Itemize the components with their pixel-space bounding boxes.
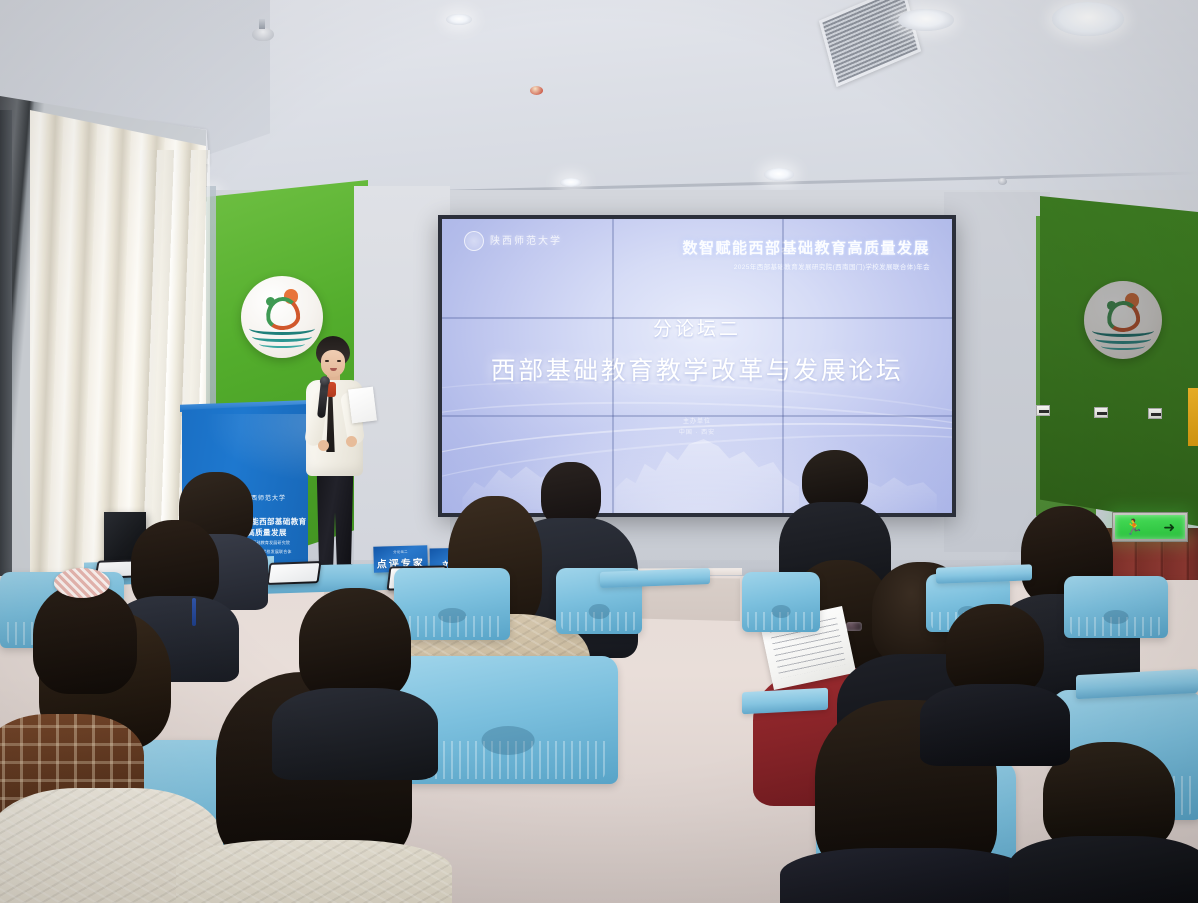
slide-footer-line-1: 主办单位 (442, 417, 952, 428)
university-seal-icon (464, 231, 484, 251)
presenter-face (321, 350, 345, 377)
wall-outlet-icon[interactable] (1036, 405, 1050, 416)
auditorium-chair[interactable] (742, 572, 820, 632)
presenter-person (296, 336, 376, 570)
slide-footer: 主办单位 中国 · 西安 (442, 417, 952, 439)
ceiling-downlight-icon (1052, 2, 1124, 36)
knit-texture (176, 840, 452, 903)
slide-title-block: 分论坛二 西部基础教育教学改革与发展论坛 (442, 314, 952, 387)
ceiling-downlight-icon (764, 168, 794, 181)
audience-person (20, 568, 150, 718)
audience-person (1016, 742, 1198, 903)
right-arrow-icon: ➜ (1163, 520, 1175, 534)
person-torso (920, 684, 1070, 766)
wall-column-right (944, 192, 1050, 552)
person-hair (33, 584, 137, 694)
hair-scrunchie (54, 568, 110, 598)
presenter-hand (318, 440, 329, 451)
slide-footer-line-2: 中国 · 西安 (442, 428, 952, 439)
person-torso (176, 840, 452, 903)
person-hair (299, 588, 411, 702)
person-hair (946, 604, 1044, 696)
ceiling-downlight-icon (898, 9, 954, 31)
auditorium-chair[interactable] (1064, 576, 1168, 638)
presenter-script-paper (348, 387, 377, 424)
ceiling-downlight-icon (560, 178, 582, 187)
wall-outlet-icon[interactable] (1094, 407, 1108, 418)
presenter-hand (346, 436, 357, 447)
slide-header-main: 数智赋能西部基础教育高质量发展 (682, 237, 930, 258)
green-accent-wall-right (1040, 196, 1198, 526)
slide-header: 数智赋能西部基础教育高质量发展 2025年西部基础教育发展研究院(西南国门)学校… (682, 237, 930, 271)
person-torso (272, 688, 438, 780)
door-frame-strip (1188, 388, 1198, 446)
ceiling-downlight-icon (446, 14, 472, 25)
slide-logo-text: 陕西师范大学 (490, 236, 562, 247)
audience-person (930, 604, 1060, 754)
smoke-detector-icon (252, 28, 274, 41)
person-torso (780, 848, 1032, 903)
attached-desk[interactable] (936, 564, 1032, 583)
tablet-device[interactable] (266, 561, 321, 585)
presenter-mouth (330, 368, 337, 371)
presenter-trousers (316, 472, 354, 568)
school-crest-emblem-right (1084, 281, 1162, 359)
slide-institution-logo: 陕西师范大学 (464, 231, 562, 251)
wall-outlet-icon[interactable] (1148, 408, 1162, 419)
person-torso (1009, 836, 1198, 903)
window-mullion (0, 110, 12, 610)
slide-title-line-2: 西部基础教育教学改革与发展论坛 (442, 351, 952, 387)
audience-person (280, 588, 430, 768)
sprinkler-head-icon (530, 86, 543, 95)
video-wall-seam (442, 317, 952, 319)
sprinkler-head-icon (998, 178, 1007, 185)
conference-room-photo: 陕西师范大学 数智赋能西部基础教育高质量发展 2025年西部基础教育发展研究院(… (0, 0, 1198, 903)
slide-header-sub: 2025年西部基础教育发展研究院(西南国门)学校发展联合体)年会 (682, 261, 930, 271)
video-wall-seam (442, 415, 952, 417)
emblem-book-wave-icon (1101, 342, 1145, 350)
